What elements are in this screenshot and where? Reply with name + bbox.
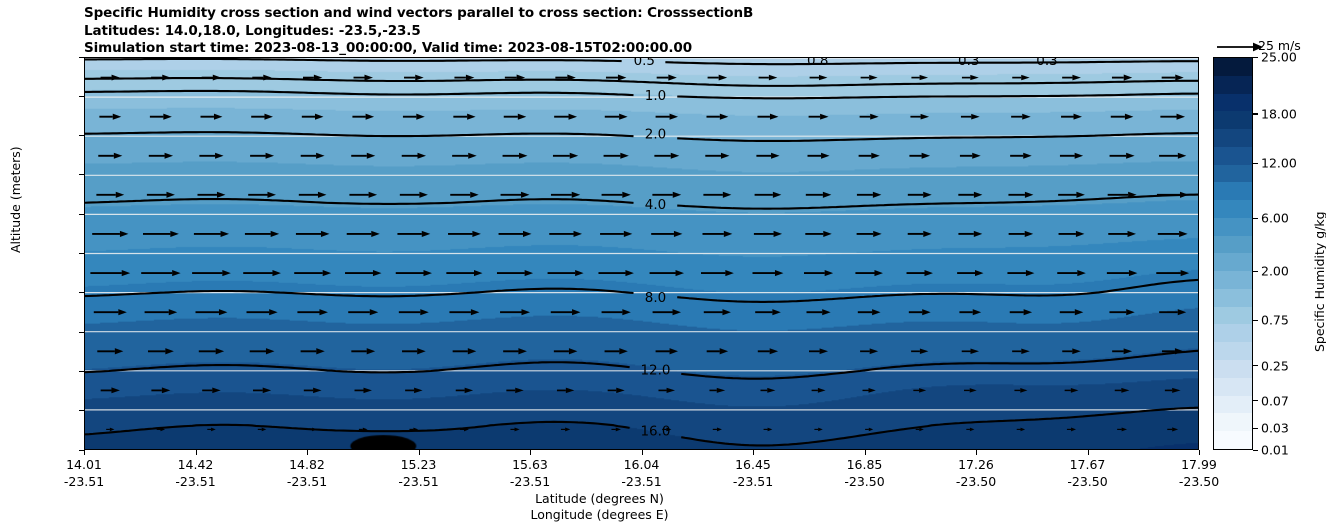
colorbar-band xyxy=(1214,253,1252,271)
colorbar-tick-mark xyxy=(1253,428,1258,429)
colorbar-band xyxy=(1214,342,1252,360)
colorbar-tick-mark xyxy=(1253,163,1258,164)
y-tick-mark xyxy=(79,214,84,215)
y-tick-mark xyxy=(79,292,84,293)
y-tick-mark xyxy=(79,57,84,58)
x-tick-label-latitude: 17.99 xyxy=(1181,457,1217,472)
x-axis-label-latitude: Latitude (degrees N) xyxy=(0,491,1199,506)
x-tick-mark xyxy=(1199,450,1200,455)
x-tick-label-longitude: -23.51 xyxy=(621,474,661,489)
x-tick-mark xyxy=(307,450,308,455)
x-tick-label-longitude: -23.51 xyxy=(175,474,215,489)
colorbar-band xyxy=(1214,218,1252,236)
colorbar-tick-label: 25.00 xyxy=(1261,50,1297,65)
x-tick-mark xyxy=(865,450,866,455)
y-tick-mark xyxy=(79,96,84,97)
colorbar-band xyxy=(1214,431,1252,449)
colorbar-band xyxy=(1214,236,1252,254)
colorbar-tick-label: 0.03 xyxy=(1261,421,1289,436)
colorbar-band xyxy=(1214,413,1252,431)
humidity-contour-fill xyxy=(85,58,1198,449)
x-tick-label-latitude: 16.04 xyxy=(624,457,660,472)
colorbar-tick-mark xyxy=(1253,320,1258,321)
colorbar-tick-label: 0.01 xyxy=(1261,443,1289,458)
colorbar-tick-mark xyxy=(1253,400,1258,401)
cross-section-plot: 0.50.80.30.30.21.02.04.08.012.016.0 xyxy=(84,57,1199,450)
title-line-1: Specific Humidity cross section and wind… xyxy=(84,5,1204,23)
x-tick-label-longitude: -23.51 xyxy=(287,474,327,489)
x-tick-mark xyxy=(84,450,85,455)
x-tick-mark xyxy=(419,450,420,455)
colorbar-tick-mark xyxy=(1253,218,1258,219)
colorbar-band xyxy=(1214,200,1252,218)
colorbar-band xyxy=(1214,324,1252,342)
x-tick-label-longitude: -23.51 xyxy=(733,474,773,489)
x-tick-mark xyxy=(976,450,977,455)
x-tick-mark xyxy=(530,450,531,455)
y-tick-mark xyxy=(79,135,84,136)
y-axis-label: Altitude (meters) xyxy=(8,146,23,253)
y-tick-mark xyxy=(79,410,84,411)
x-tick-mark xyxy=(196,450,197,455)
colorbar-tick-label: 12.00 xyxy=(1261,156,1297,171)
colorbar-tick-mark xyxy=(1253,113,1258,114)
colorbar-band xyxy=(1214,271,1252,289)
x-tick-label-longitude: -23.50 xyxy=(844,474,884,489)
x-tick-label-longitude: -23.50 xyxy=(956,474,996,489)
colorbar-tick-label: 18.00 xyxy=(1261,106,1297,121)
colorbar-band xyxy=(1214,58,1252,76)
colorbar-band xyxy=(1214,94,1252,112)
x-axis-label-longitude: Longitude (degrees E) xyxy=(0,507,1199,522)
x-tick-label-latitude: 15.23 xyxy=(401,457,437,472)
x-tick-label-longitude: -23.51 xyxy=(64,474,104,489)
colorbar-band xyxy=(1214,360,1252,378)
colorbar-tick-label: 0.25 xyxy=(1261,358,1289,373)
x-tick-label-longitude: -23.50 xyxy=(1067,474,1107,489)
colorbar-label: Specific Humidity g/kg xyxy=(1312,211,1326,352)
colorbar-tick-mark xyxy=(1253,271,1258,272)
x-tick-mark xyxy=(1088,450,1089,455)
title-line-2: Latitudes: 14.0,18.0, Longitudes: -23.5,… xyxy=(84,23,1204,41)
colorbar-band xyxy=(1214,289,1252,307)
y-tick-mark xyxy=(79,253,84,254)
colorbar-tick-label: 6.00 xyxy=(1261,211,1289,226)
colorbar-band xyxy=(1214,129,1252,147)
colorbar-tick-label: 0.07 xyxy=(1261,393,1289,408)
x-tick-label-latitude: 16.45 xyxy=(735,457,771,472)
x-tick-label-longitude: -23.50 xyxy=(1179,474,1219,489)
colorbar-tick-mark xyxy=(1253,365,1258,366)
colorbar-band xyxy=(1214,307,1252,325)
colorbar-tick-mark xyxy=(1253,57,1258,58)
colorbar-band xyxy=(1214,111,1252,129)
colorbar-band xyxy=(1214,378,1252,396)
colorbar-band xyxy=(1214,165,1252,183)
colorbar-tick-label: 2.00 xyxy=(1261,264,1289,279)
colorbar-band xyxy=(1214,396,1252,414)
colorbar xyxy=(1213,57,1253,450)
y-tick-mark xyxy=(79,371,84,372)
colorbar-band xyxy=(1214,182,1252,200)
colorbar-band xyxy=(1214,76,1252,94)
x-tick-label-latitude: 16.85 xyxy=(847,457,883,472)
x-tick-mark xyxy=(753,450,754,455)
figure-title: Specific Humidity cross section and wind… xyxy=(84,5,1204,58)
x-tick-label-latitude: 17.67 xyxy=(1070,457,1106,472)
x-tick-label-latitude: 14.42 xyxy=(178,457,214,472)
y-tick-mark xyxy=(79,332,84,333)
colorbar-tick-label: 0.75 xyxy=(1261,313,1289,328)
colorbar-tick-mark xyxy=(1253,450,1258,451)
figure-root: Specific Humidity cross section and wind… xyxy=(0,0,1326,526)
y-tick-mark xyxy=(79,174,84,175)
x-tick-label-latitude: 15.63 xyxy=(512,457,548,472)
x-tick-label-latitude: 17.26 xyxy=(958,457,994,472)
x-tick-label-longitude: -23.51 xyxy=(510,474,550,489)
x-tick-label-longitude: -23.51 xyxy=(398,474,438,489)
x-tick-label-latitude: 14.82 xyxy=(289,457,325,472)
title-line-3: Simulation start time: 2023-08-13_00:00:… xyxy=(84,40,1204,58)
x-tick-mark xyxy=(642,450,643,455)
x-tick-label-latitude: 14.01 xyxy=(66,457,102,472)
colorbar-band xyxy=(1214,147,1252,165)
